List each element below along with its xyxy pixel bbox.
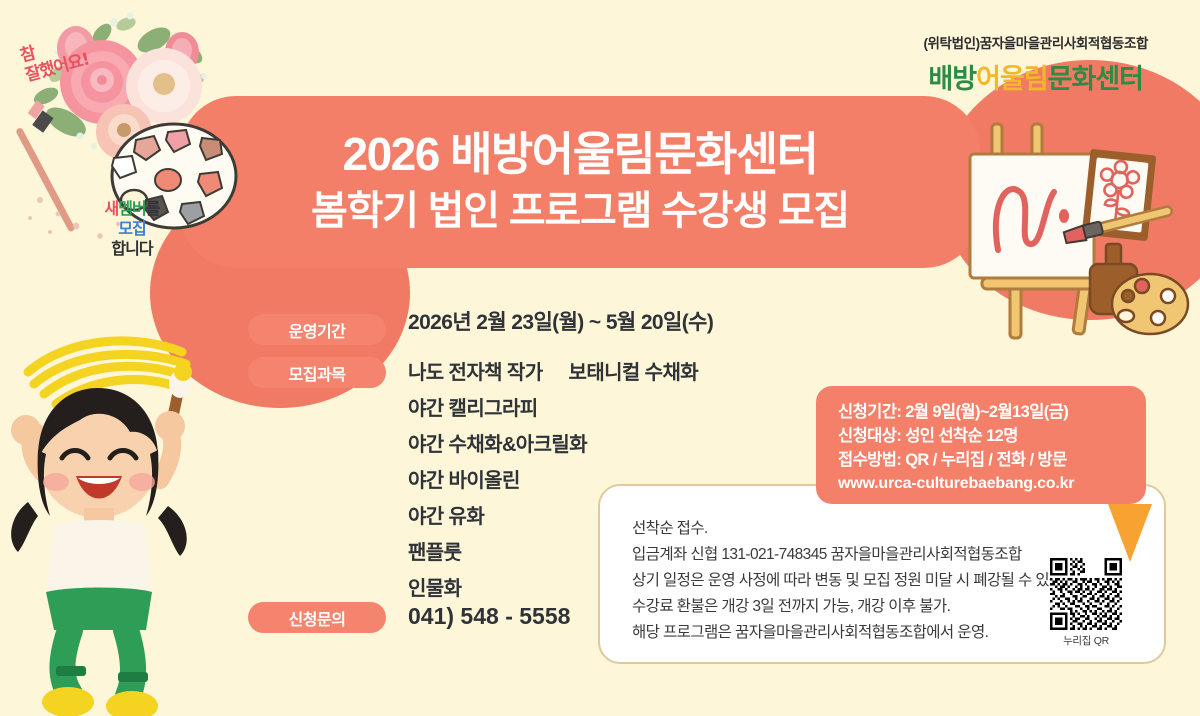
member-do-word: 합니다 [72,240,192,260]
callout-website-url[interactable]: www.urca-culturebaebang.co.kr [838,472,1146,496]
callout-tail-icon [1108,504,1152,562]
course-item: 야간 수채화&아크릴화 [408,427,698,463]
callout-method: 접수방법: QR / 누리집 / 전화 / 방문 [838,448,1146,472]
value-period: 2026년 2월 23일(월) ~ 5월 20일(수) [408,312,713,333]
member-new-word: 새 [105,201,119,218]
label-period: 운영기간 [248,314,386,345]
course-item: 나도 전자책 작가보태니컬 수채화 [408,355,698,391]
qr-caption: 누리집 QR [1050,633,1122,648]
qr-code-icon[interactable] [1050,558,1122,630]
logo-brand-part3: 문화센터 [1048,64,1143,95]
poster-canvas: (위탁법인)꿈자을마을관리사회적협동조합 배방어울림문화센터 [0,0,1200,716]
note-line-1: 선착순 접수. [632,516,1164,542]
easel-illustration-icon [946,110,1196,340]
center-logo: (위탁법인)꿈자을마을관리사회적협동조합 배방어울림문화센터 [923,32,1148,96]
cheering-girl-illustration-icon [0,330,230,716]
logo-org-name: (위탁법인)꿈자을마을관리사회적협동조합 [923,32,1148,52]
application-callout: 신청기간: 2월 9일(월)~2월13일(금) 신청대상: 성인 선착순 12명… [816,386,1146,504]
course-item: 야간 캘리그라피 [408,391,698,427]
label-subjects: 모집과목 [248,357,386,388]
title-banner: 2026 배방어울림문화센터 봄학기 법인 프로그램 수강생 모집 [180,96,980,268]
callout-target: 신청대상: 성인 선착순 12명 [838,424,1146,448]
member-word: 멤버 [118,201,145,218]
course-name-a: 나도 전자책 작가 [408,362,543,384]
label-inquiry: 신청문의 [248,602,386,633]
notes-box: 선착순 접수. 입금계좌 신협 131-021-748345 꿈자을마을관리사회… [598,484,1166,664]
qr-block[interactable]: 누리집 QR [1050,558,1122,648]
logo-brand: 배방어울림문화센터 [923,57,1148,96]
title-line2: 봄학기 법인 프로그램 수강생 모집 [311,187,849,235]
member-recruit-text: 새멤버를 모집 합니다 [72,200,192,260]
course-name-b: 보태니컬 수채화 [569,362,699,384]
value-phone[interactable]: 041) 548 - 5558 [408,603,570,630]
logo-brand-part2: 어울림 [976,64,1048,95]
info-row-inquiry: 신청문의 041) 548 - 5558 [248,600,570,633]
callout-period: 신청기간: 2월 9일(월)~2월13일(금) [838,400,1146,424]
logo-brand-part1: 배방 [928,64,976,95]
member-particle: 를 [146,201,160,218]
member-recruit-word: 모집 [72,220,192,240]
member-line-1: 새멤버를 [72,200,192,220]
title-line1: 2026 배방어울림문화센터 [343,129,818,181]
info-row-period: 운영기간 2026년 2월 23일(월) ~ 5월 20일(수) [248,312,713,345]
